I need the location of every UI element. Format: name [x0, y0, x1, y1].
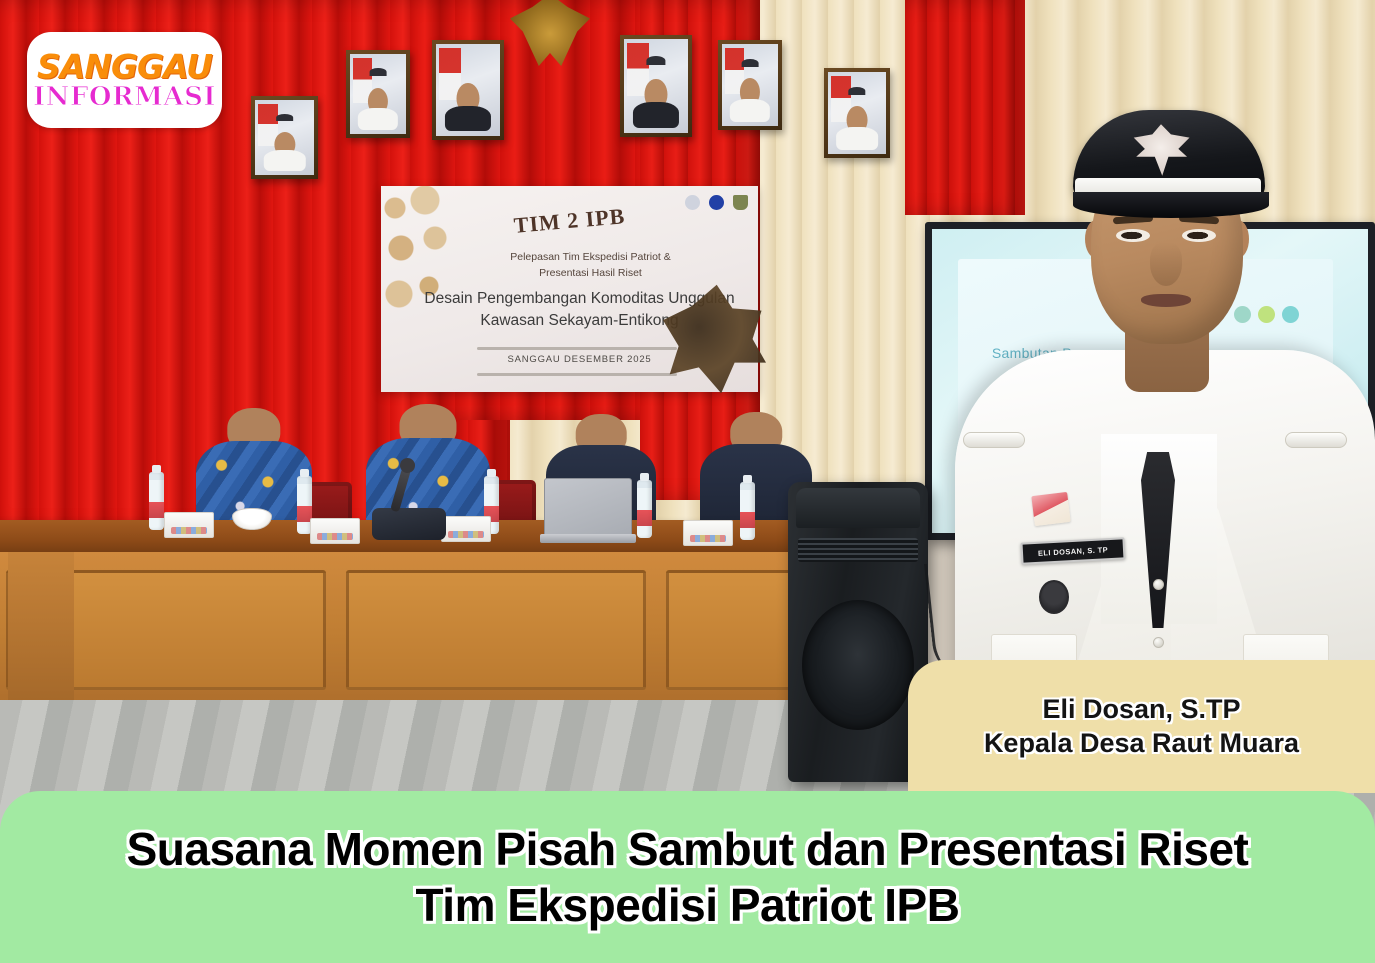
table-panel: [346, 570, 646, 690]
banner-subtitle: Pelepasan Tim Ekspedisi Patriot & Presen…: [441, 250, 740, 282]
pa-speaker-woofer: [802, 600, 914, 730]
caption-bar: Suasana Momen Pisah Sambut dan Presentas…: [0, 791, 1375, 963]
eye-left: [1116, 229, 1150, 242]
uniform-nametag-text: ELI DOSAN, S. TP: [1038, 545, 1109, 558]
tissue-box: [683, 520, 733, 546]
speaker-role: Kepala Desa Raut Muara: [984, 728, 1299, 759]
epaulette-right: [1285, 432, 1347, 448]
speaker-name: Eli Dosan, S.TP: [1042, 694, 1240, 725]
water-bottle: [637, 480, 652, 538]
epaulette-left: [963, 432, 1025, 448]
uniform-medal-icon: [1039, 580, 1069, 614]
logo-text-sanggau: SANGGAU: [37, 50, 212, 83]
table-panel: [666, 570, 792, 690]
tissue-box: [441, 516, 491, 542]
banner-divider-bottom: [477, 373, 677, 376]
banner-divider-top: [477, 347, 677, 350]
mouth: [1141, 294, 1191, 307]
tissue-box: [310, 518, 360, 544]
nose: [1150, 242, 1182, 286]
event-banner: TIM 2 IPB Pelepasan Tim Ekspedisi Patrio…: [381, 186, 758, 392]
water-bottle: [149, 472, 164, 530]
water-bottle: [740, 482, 755, 540]
poster-root: Sambutan Pemer TIM 2 IPB Pelepasan Tim E…: [0, 0, 1375, 963]
official-portrait-vice-president: [620, 35, 692, 137]
laptop-keyboard: [540, 534, 636, 543]
caption-line-1: Suasana Momen Pisah Sambut dan Presentas…: [127, 821, 1249, 877]
official-portrait: [251, 96, 318, 179]
official-portrait-president: [432, 40, 504, 140]
tissue-box: [164, 512, 214, 538]
uniform-emblem-icon: [1031, 492, 1070, 526]
speaker-name-card: Eli Dosan, S.TP Kepala Desa Raut Muara: [908, 660, 1375, 793]
speaker-portrait-eli-dosan: ELI DOSAN, S. TP: [955, 90, 1375, 710]
pa-speaker-tweeter: [796, 488, 920, 528]
channel-logo-badge[interactable]: SANGGAU INFORMASI: [27, 32, 222, 128]
eye-right: [1182, 229, 1216, 242]
pa-speaker: [788, 482, 928, 782]
caption-line-2: Tim Ekspedisi Patriot IPB: [416, 877, 960, 933]
handbag: [372, 508, 446, 540]
official-portrait: [346, 50, 410, 138]
logo-text-informasi: INFORMASI: [33, 84, 216, 110]
laptop-screen: [544, 478, 632, 540]
uniform-button: [1153, 579, 1164, 590]
cap-brim: [1073, 192, 1269, 218]
official-portrait: [824, 68, 890, 158]
pa-speaker-grill: [798, 538, 918, 562]
official-portrait: [718, 40, 782, 130]
uniform-button: [1153, 637, 1164, 648]
